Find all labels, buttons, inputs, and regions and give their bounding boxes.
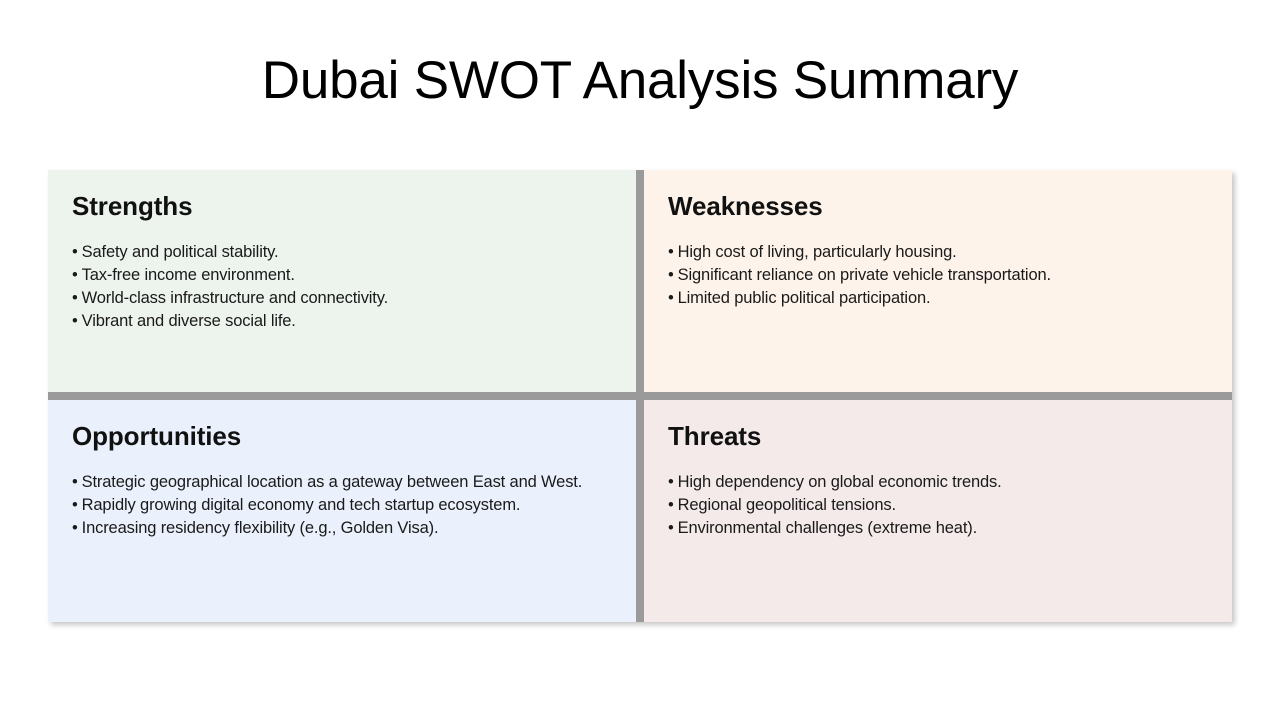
quadrant-strengths-list: •Safety and political stability. •Tax-fr…: [72, 241, 612, 333]
bullet-icon: •: [72, 519, 78, 537]
list-item-text: Tax-free income environment.: [82, 266, 295, 284]
list-item: •Strategic geographical location as a ga…: [72, 471, 612, 494]
bullet-icon: •: [668, 519, 674, 537]
quadrant-opportunities-heading: Opportunities: [72, 422, 612, 451]
quadrant-weaknesses-list: •High cost of living, particularly housi…: [668, 241, 1208, 310]
bullet-icon: •: [668, 496, 674, 514]
bullet-icon: •: [72, 289, 78, 307]
quadrant-weaknesses-heading: Weaknesses: [668, 192, 1208, 221]
list-item-text: Strategic geographical location as a gat…: [82, 473, 583, 491]
list-item-text: Vibrant and diverse social life.: [82, 312, 296, 330]
bullet-icon: •: [72, 473, 78, 491]
bullet-icon: •: [668, 266, 674, 284]
list-item: •Regional geopolitical tensions.: [668, 494, 1208, 517]
bullet-icon: •: [72, 312, 78, 330]
quadrant-strengths-heading: Strengths: [72, 192, 612, 221]
bullet-icon: •: [668, 473, 674, 491]
list-item-text: Rapidly growing digital economy and tech…: [82, 496, 521, 514]
list-item-text: Environmental challenges (extreme heat).: [678, 519, 977, 537]
list-item-text: High dependency on global economic trend…: [678, 473, 1002, 491]
list-item: •World-class infrastructure and connecti…: [72, 287, 612, 310]
bullet-icon: •: [72, 266, 78, 284]
list-item-text: High cost of living, particularly housin…: [678, 243, 957, 261]
list-item-text: World-class infrastructure and connectiv…: [82, 289, 388, 307]
list-item: •Significant reliance on private vehicle…: [668, 264, 1208, 287]
list-item: •Increasing residency flexibility (e.g.,…: [72, 517, 612, 540]
list-item-text: Limited public political participation.: [678, 289, 931, 307]
list-item: •High cost of living, particularly housi…: [668, 241, 1208, 264]
list-item: •Safety and political stability.: [72, 241, 612, 264]
quadrant-threats: Threats •High dependency on global econo…: [644, 400, 1232, 622]
list-item-text: Safety and political stability.: [82, 243, 279, 261]
list-item: •Rapidly growing digital economy and tec…: [72, 494, 612, 517]
list-item: •High dependency on global economic tren…: [668, 471, 1208, 494]
quadrant-threats-list: •High dependency on global economic tren…: [668, 471, 1208, 540]
list-item: •Tax-free income environment.: [72, 264, 612, 287]
swot-matrix: Strengths •Safety and political stabilit…: [48, 170, 1232, 622]
list-item: •Vibrant and diverse social life.: [72, 310, 612, 333]
bullet-icon: •: [72, 496, 78, 514]
bullet-icon: •: [72, 243, 78, 261]
quadrant-strengths: Strengths •Safety and political stabilit…: [48, 170, 636, 392]
list-item-text: Increasing residency flexibility (e.g., …: [82, 519, 439, 537]
bullet-icon: •: [668, 289, 674, 307]
quadrant-opportunities-list: •Strategic geographical location as a ga…: [72, 471, 612, 540]
quadrant-opportunities: Opportunities •Strategic geographical lo…: [48, 400, 636, 622]
list-item: •Limited public political participation.: [668, 287, 1208, 310]
list-item: •Environmental challenges (extreme heat)…: [668, 517, 1208, 540]
page-title: Dubai SWOT Analysis Summary: [0, 52, 1280, 110]
list-item-text: Regional geopolitical tensions.: [678, 496, 896, 514]
slide-canvas: Dubai SWOT Analysis Summary Strengths •S…: [0, 0, 1280, 720]
bullet-icon: •: [668, 243, 674, 261]
quadrant-threats-heading: Threats: [668, 422, 1208, 451]
quadrant-weaknesses: Weaknesses •High cost of living, particu…: [644, 170, 1232, 392]
list-item-text: Significant reliance on private vehicle …: [678, 266, 1051, 284]
